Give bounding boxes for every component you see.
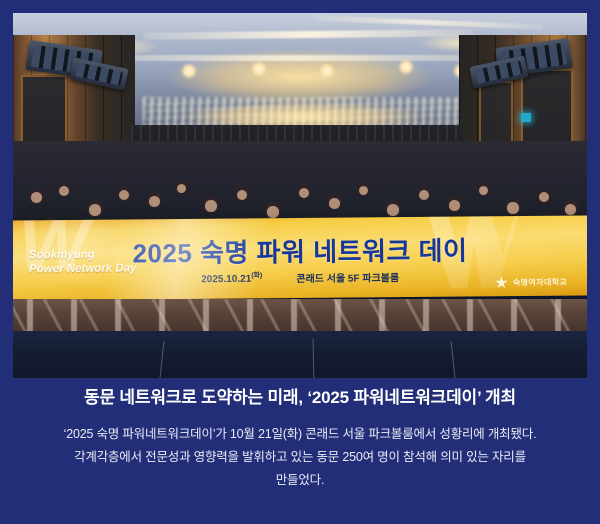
- attendee: [265, 201, 281, 219]
- attendee: [29, 187, 44, 204]
- downlight-icon: [181, 63, 197, 79]
- caption-block: 동문 네트워크로 도약하는 미래, ‘2025 파워네트워크데이’ 개최 ‘20…: [0, 386, 600, 492]
- ballroom-floor: [13, 331, 587, 378]
- attendee: [117, 185, 131, 201]
- article-body: ‘2025 숙명 파워네트워크데이’가 10월 21일(화) 콘래드 서울 파크…: [10, 423, 590, 492]
- attendee: [235, 185, 249, 201]
- attendee: [417, 185, 431, 201]
- attendee: [175, 179, 188, 194]
- attendee: [147, 191, 162, 208]
- floor-marking: [313, 339, 315, 378]
- attendee: [203, 195, 219, 213]
- attendee: [563, 199, 578, 216]
- patterned-carpet: [13, 299, 587, 333]
- article-body-line-1: ‘2025 숙명 파워네트워크데이’가 10월 21일(화) 콘래드 서울 파크…: [14, 423, 586, 446]
- ceiling-light-bar: [143, 29, 473, 39]
- event-banner: W Sookmyung Power Network Day 2025 숙명 파워…: [13, 215, 587, 300]
- exit-sign-icon: [521, 113, 531, 122]
- floor-marking: [451, 341, 457, 378]
- attendee: [327, 193, 342, 210]
- attendee: [385, 199, 401, 217]
- attendee: [297, 183, 311, 199]
- downlight-icon: [398, 59, 414, 75]
- article-title: 동문 네트워크로 도약하는 미래, ‘2025 파워네트워크데이’ 개최: [10, 386, 590, 411]
- attendee: [447, 195, 462, 212]
- university-logo: 숙명여자대학교: [495, 276, 567, 290]
- attendee: [537, 187, 551, 203]
- banner-date-value: 2025.10.21: [201, 274, 251, 285]
- banner-headline: 2025 숙명 파워 네트워크 데이: [13, 229, 587, 271]
- attendee: [57, 181, 71, 197]
- article-body-line-2: 각계각층에서 전문성과 영향력을 발휘하고 있는 동문 250여 명이 참석해 …: [14, 446, 586, 469]
- banner-date: 2025.10.21(화): [201, 270, 262, 286]
- downlight-icon: [251, 61, 267, 77]
- article-card: W Sookmyung Power Network Day 2025 숙명 파워…: [0, 0, 600, 524]
- attendee: [477, 181, 490, 196]
- star-icon: [495, 276, 508, 289]
- floor-marking: [159, 341, 165, 378]
- banner-date-weekday: (화): [251, 272, 262, 279]
- event-photo: W Sookmyung Power Network Day 2025 숙명 파워…: [13, 13, 587, 378]
- attendee: [87, 199, 103, 217]
- banner-location: 콘래드 서울 5F 파크볼룸: [296, 269, 399, 285]
- ceiling-light-bar: [313, 16, 543, 30]
- article-body-line-3: 만들었다.: [14, 469, 586, 492]
- attendee: [357, 181, 370, 196]
- attendee: [505, 197, 521, 215]
- photo-canvas: W Sookmyung Power Network Day 2025 숙명 파워…: [13, 13, 587, 378]
- downlight-icon: [319, 63, 335, 79]
- university-logo-text: 숙명여자대학교: [513, 277, 567, 288]
